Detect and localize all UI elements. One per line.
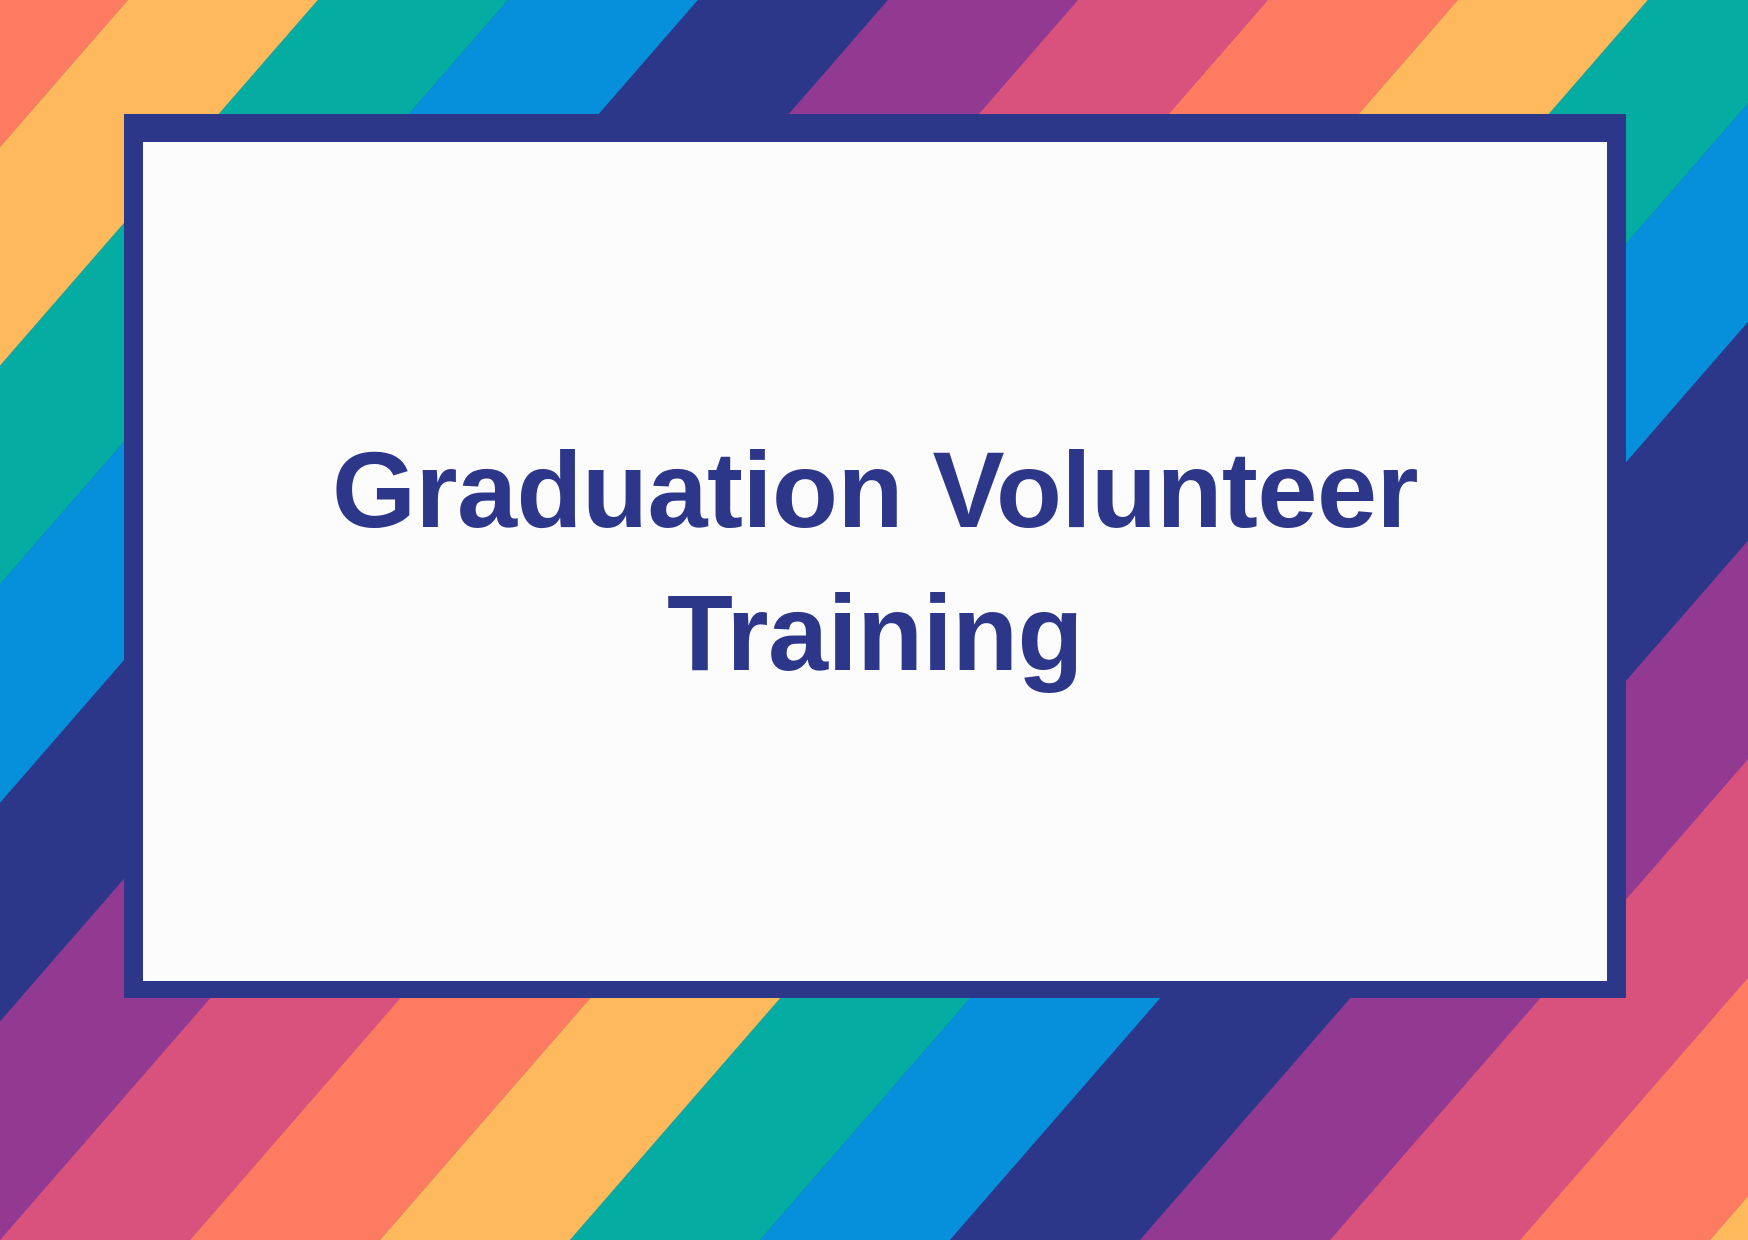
card-body: Graduation Volunteer Training — [143, 419, 1607, 704]
content-card-frame: Graduation Volunteer Training — [124, 114, 1626, 998]
page-title: Graduation Volunteer Training — [285, 419, 1465, 704]
slide-canvas: Graduation Volunteer Training — [0, 0, 1748, 1240]
content-card: Graduation Volunteer Training — [143, 142, 1607, 981]
